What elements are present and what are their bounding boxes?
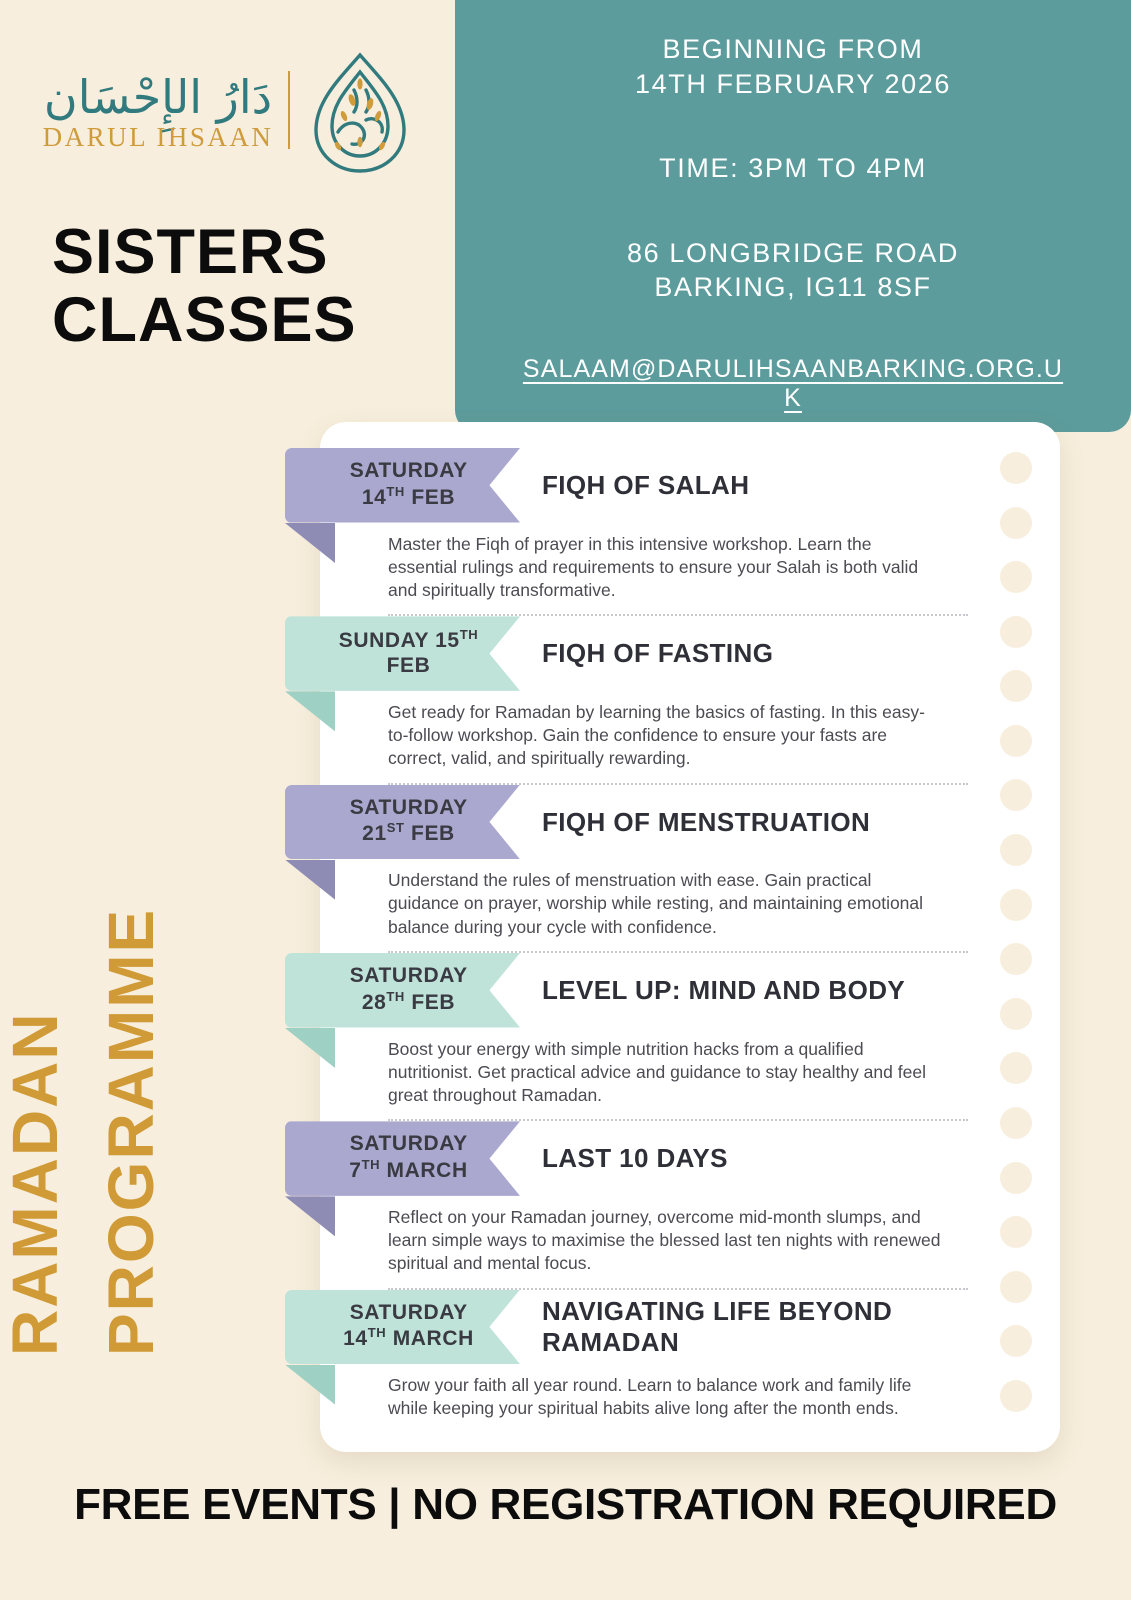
session-description: Understand the rules of menstruation wit… [388, 869, 968, 939]
vertical-label-line2: PROGRAMME [94, 908, 168, 1356]
date-tag-date: 28TH FEB [362, 991, 455, 1014]
arabic-calligraphy-mark-icon [306, 48, 414, 178]
info-start-date: BEGINNING FROM 14TH FEBRUARY 2026 [515, 28, 1071, 105]
schedule-item-header: SATURDAY 14TH FEBFIQH OF SALAH [285, 448, 985, 523]
logo-name-text: DARUL IHSAAN [43, 122, 274, 153]
date-tag-day: SATURDAY [350, 1301, 468, 1324]
date-tag-date: 14TH MARCH [343, 1327, 474, 1350]
date-tag-fold [285, 691, 335, 731]
date-tag-fold [285, 1196, 335, 1236]
schedule-item: SATURDAY 7TH MARCHLAST 10 DAYSReflect on… [285, 1121, 985, 1289]
date-tag-fold [285, 1028, 335, 1068]
binder-dot [1000, 1271, 1032, 1303]
date-tag: SATURDAY 7TH MARCH [285, 1121, 520, 1196]
page-title-line1: SISTERS [52, 218, 452, 286]
schedule-item: SATURDAY 21ST FEBFIQH OF MENSTRUATIONUnd… [285, 785, 985, 953]
binder-dot [1000, 452, 1032, 484]
date-tag-ordinal: ST [387, 820, 405, 835]
vertical-label-line1: RAMADAN [0, 1011, 72, 1356]
date-tag-day: SATURDAY [350, 1132, 468, 1155]
schedule-item-header: SATURDAY 7TH MARCHLAST 10 DAYS [285, 1121, 985, 1196]
page-title-line2: CLASSES [52, 286, 452, 354]
binder-dot [1000, 1325, 1032, 1357]
info-start-value: 14TH FEBRUARY 2026 [515, 67, 1071, 102]
schedule-item: SATURDAY 14TH MARCHNAVIGATING LIFE BEYON… [285, 1290, 985, 1421]
schedule-item-header: SATURDAY 28TH FEBLEVEL UP: MIND AND BODY [285, 953, 985, 1028]
binder-dots-decoration [1000, 452, 1034, 1412]
date-tag-ordinal: TH [386, 989, 405, 1004]
date-tag: SATURDAY 14TH MARCH [285, 1290, 520, 1365]
binder-dot [1000, 1107, 1032, 1139]
brand-logo: دَارُ الإِحْسَان DARUL IHSAAN [38, 38, 438, 188]
schedule-item: SATURDAY 28TH FEBLEVEL UP: MIND AND BODY… [285, 953, 985, 1121]
schedule-item: SATURDAY 14TH FEBFIQH OF SALAHMaster the… [285, 448, 985, 616]
session-description: Boost your energy with simple nutrition … [388, 1038, 968, 1108]
session-title: LAST 10 DAYS [520, 1143, 985, 1174]
binder-dot [1000, 725, 1032, 757]
date-tag-ordinal: TH [368, 1325, 387, 1340]
logo-wordmark: دَارُ الإِحْسَان DARUL IHSAAN [38, 74, 278, 153]
date-tag-fold [285, 523, 335, 563]
date-tag-day: SATURDAY [350, 796, 468, 819]
date-tag-wrapper: SATURDAY 28TH FEB [285, 953, 520, 1028]
logo-arabic-text: دَارُ الإِحْسَان [44, 74, 272, 120]
date-tag: SATURDAY 14TH FEB [285, 448, 520, 523]
binder-dot [1000, 670, 1032, 702]
date-tag-day: SATURDAY [350, 459, 468, 482]
session-description: Master the Fiqh of prayer in this intens… [388, 533, 968, 603]
binder-dot [1000, 998, 1032, 1030]
date-tag: SATURDAY 28TH FEB [285, 953, 520, 1028]
page-title: SISTERS CLASSES [52, 218, 452, 354]
email-link[interactable]: SALAAM@DARULIHSAANBARKING.ORG.UK [515, 355, 1071, 413]
logo-divider [288, 71, 290, 149]
session-title: LEVEL UP: MIND AND BODY [520, 975, 985, 1006]
date-tag-wrapper: SUNDAY 15TH FEB [285, 616, 520, 691]
binder-dot [1000, 1216, 1032, 1248]
footer-banner: FREE EVENTS | NO REGISTRATION REQUIRED [0, 1480, 1131, 1530]
schedule-item-header: SATURDAY 14TH MARCHNAVIGATING LIFE BEYON… [285, 1290, 985, 1365]
session-title: FIQH OF FASTING [520, 638, 985, 669]
date-tag-wrapper: SATURDAY 21ST FEB [285, 785, 520, 860]
session-description: Reflect on your Ramadan journey, overcom… [388, 1206, 968, 1276]
binder-dot [1000, 779, 1032, 811]
date-tag-day: SATURDAY [350, 964, 468, 987]
session-title: FIQH OF MENSTRUATION [520, 807, 985, 838]
binder-dot [1000, 507, 1032, 539]
binder-dot [1000, 1052, 1032, 1084]
binder-dot [1000, 1380, 1032, 1412]
date-tag: SATURDAY 21ST FEB [285, 785, 520, 860]
date-tag-fold [285, 860, 335, 900]
schedule-item: SUNDAY 15TH FEBFIQH OF FASTINGGet ready … [285, 616, 985, 784]
session-description: Get ready for Ramadan by learning the ba… [388, 701, 968, 771]
schedule-item-header: SATURDAY 21ST FEBFIQH OF MENSTRUATION [285, 785, 985, 860]
date-tag-wrapper: SATURDAY 7TH MARCH [285, 1121, 520, 1196]
info-address-line2: BARKING, IG11 8SF [515, 270, 1071, 305]
schedule-list: SATURDAY 14TH FEBFIQH OF SALAHMaster the… [285, 448, 985, 1421]
date-tag-day: SUNDAY [339, 629, 429, 652]
date-tag-date: 7TH MARCH [349, 1159, 467, 1182]
binder-dot [1000, 889, 1032, 921]
binder-dot [1000, 616, 1032, 648]
session-title: FIQH OF SALAH [520, 470, 985, 501]
date-tag-ordinal: TH [386, 484, 405, 499]
date-tag-date: 14TH FEB [362, 486, 455, 509]
session-title: NAVIGATING LIFE BEYOND RAMADAN [520, 1296, 985, 1357]
date-tag-wrapper: SATURDAY 14TH MARCH [285, 1290, 520, 1365]
binder-dot [1000, 834, 1032, 866]
binder-dot [1000, 1162, 1032, 1194]
date-tag-date: 21ST FEB [362, 822, 455, 845]
session-description: Grow your faith all year round. Learn to… [388, 1374, 968, 1421]
info-email-block: SALAAM@DARULIHSAANBARKING.ORG.UK [515, 351, 1071, 417]
info-address: 86 LONGBRIDGE ROAD BARKING, IG11 8SF [515, 232, 1071, 309]
schedule-item-header: SUNDAY 15TH FEBFIQH OF FASTING [285, 616, 985, 691]
binder-dot [1000, 943, 1032, 975]
date-tag-ordinal: TH [362, 1157, 381, 1172]
poster-root: دَارُ الإِحْسَان DARUL IHSAAN [0, 0, 1131, 1600]
date-tag-fold [285, 1365, 335, 1405]
info-time: TIME: 3PM TO 4PM [515, 147, 1071, 190]
date-tag-wrapper: SATURDAY 14TH FEB [285, 448, 520, 523]
event-info-box: BEGINNING FROM 14TH FEBRUARY 2026 TIME: … [455, 0, 1131, 432]
info-start-label: BEGINNING FROM [515, 32, 1071, 67]
info-time-value: TIME: 3PM TO 4PM [515, 151, 1071, 186]
date-tag: SUNDAY 15TH FEB [285, 616, 520, 691]
info-address-line1: 86 LONGBRIDGE ROAD [515, 236, 1071, 271]
date-tag-ordinal: TH [460, 627, 479, 642]
binder-dot [1000, 561, 1032, 593]
